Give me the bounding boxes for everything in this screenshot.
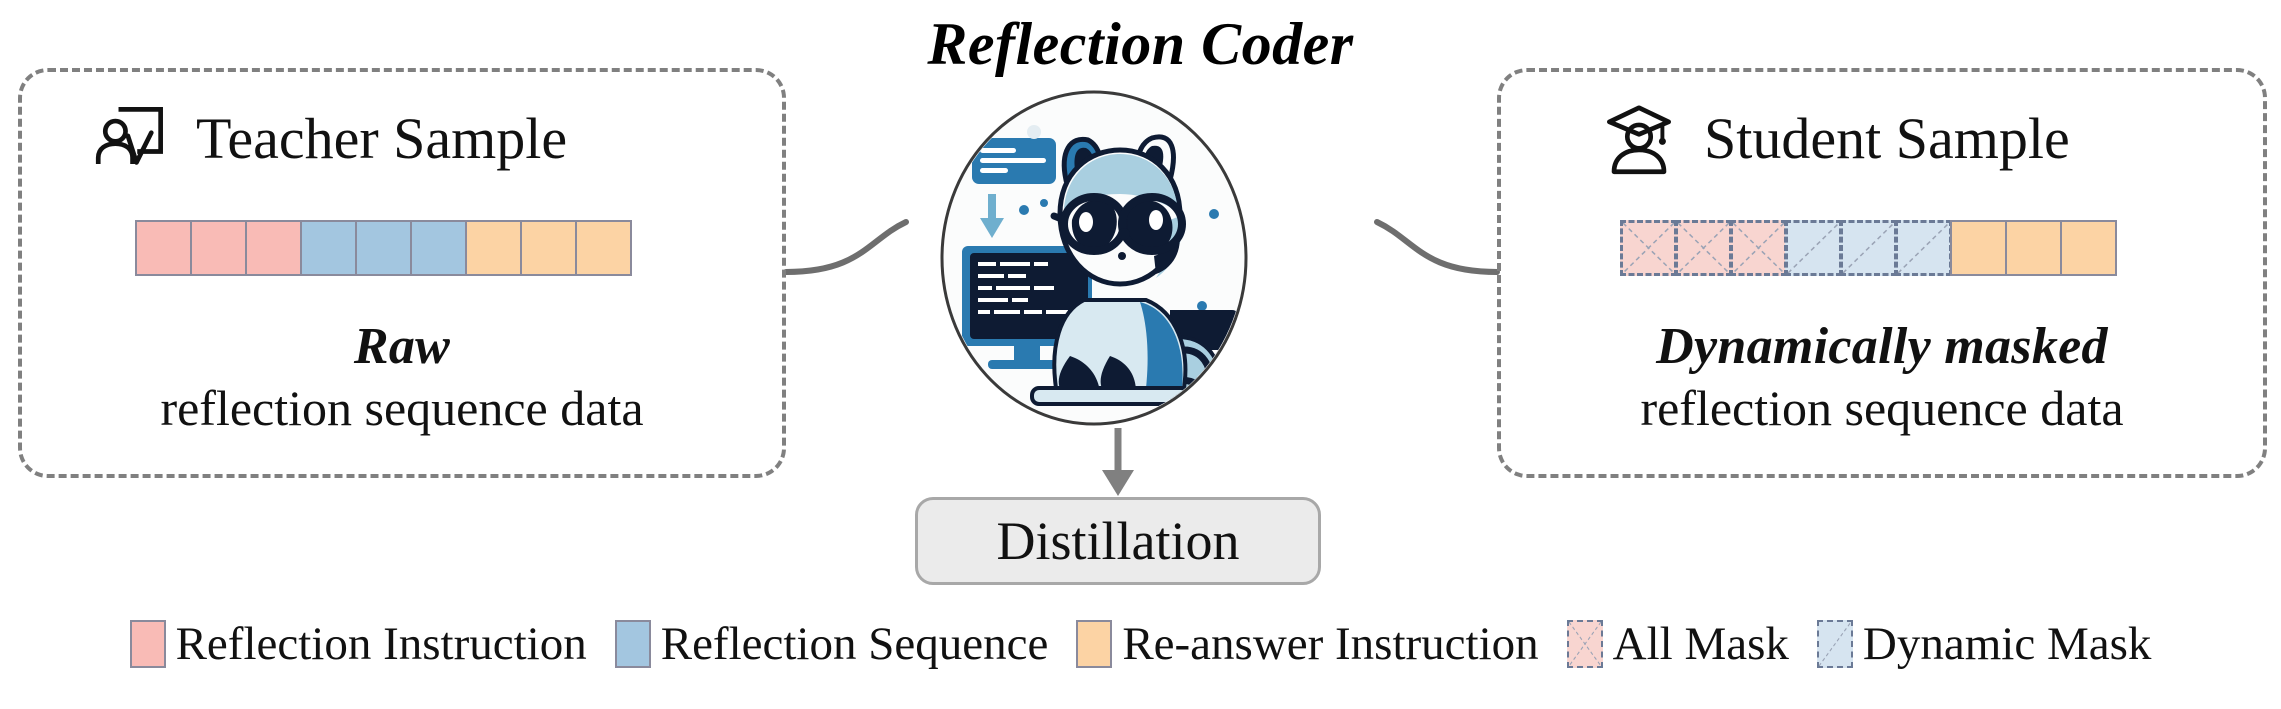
teacher-token-sequence <box>135 220 630 276</box>
legend-item: All Mask <box>1567 620 1789 668</box>
token-cell-reflection-instruction <box>190 220 247 276</box>
legend-label: Dynamic Mask <box>1863 621 2151 668</box>
raccoon-coder-mascot <box>884 88 1304 428</box>
legend-swatch-solid <box>1076 620 1112 668</box>
student-caption-subtitle: reflection sequence data <box>1497 380 2267 436</box>
token-cell-reflection-instruction <box>1620 220 1677 276</box>
teacher-panel-title: Teacher Sample <box>196 110 567 168</box>
token-cell-reflection-sequence <box>300 220 357 276</box>
teacher-caption: Raw reflection sequence data <box>18 318 786 436</box>
token-cell-reflection-sequence <box>355 220 412 276</box>
legend-swatch-solid <box>130 620 166 668</box>
distillation-label: Distillation <box>997 514 1240 568</box>
legend: Reflection InstructionReflection Sequenc… <box>0 620 2281 668</box>
legend-swatch-solid <box>615 620 651 668</box>
token-cell-re-answer-instruction <box>2005 220 2062 276</box>
legend-swatch-cross <box>1567 620 1603 668</box>
legend-item: Reflection Instruction <box>130 620 587 668</box>
token-cell-reflection-sequence <box>410 220 467 276</box>
person-presentation-check-icon <box>92 100 170 178</box>
token-cell-re-answer-instruction <box>1950 220 2007 276</box>
legend-swatch-diagonal <box>1817 620 1853 668</box>
figure-canvas: Reflection Coder Teacher Sample Raw refl… <box>0 0 2281 709</box>
token-cell-reflection-instruction <box>1675 220 1732 276</box>
student-panel-title: Student Sample <box>1704 110 2070 168</box>
student-caption-emphasis: Dynamically masked <box>1497 318 2267 376</box>
teacher-caption-emphasis: Raw <box>18 318 786 376</box>
token-cell-re-answer-instruction <box>465 220 522 276</box>
graduate-student-icon <box>1600 100 1678 178</box>
distillation-box[interactable]: Distillation <box>915 497 1321 585</box>
token-cell-reflection-instruction <box>245 220 302 276</box>
token-cell-reflection-instruction <box>135 220 192 276</box>
token-cell-re-answer-instruction <box>575 220 632 276</box>
student-panel-header: Student Sample <box>1600 100 2070 178</box>
token-cell-reflection-sequence <box>1785 220 1842 276</box>
legend-label: Reflection Sequence <box>661 621 1049 668</box>
token-cell-reflection-sequence <box>1895 220 1952 276</box>
student-token-sequence <box>1620 220 2115 276</box>
legend-item: Re-answer Instruction <box>1076 620 1538 668</box>
teacher-caption-subtitle: reflection sequence data <box>18 380 786 436</box>
token-cell-reflection-instruction <box>1730 220 1787 276</box>
token-cell-re-answer-instruction <box>520 220 577 276</box>
legend-item: Dynamic Mask <box>1817 620 2151 668</box>
legend-label: Reflection Instruction <box>176 621 587 668</box>
token-cell-reflection-sequence <box>1840 220 1897 276</box>
legend-item: Reflection Sequence <box>615 620 1049 668</box>
legend-label: All Mask <box>1613 621 1789 668</box>
teacher-panel-header: Teacher Sample <box>92 100 567 178</box>
token-cell-re-answer-instruction <box>2060 220 2117 276</box>
student-caption: Dynamically masked reflection sequence d… <box>1497 318 2267 436</box>
legend-label: Re-answer Instruction <box>1122 621 1538 668</box>
